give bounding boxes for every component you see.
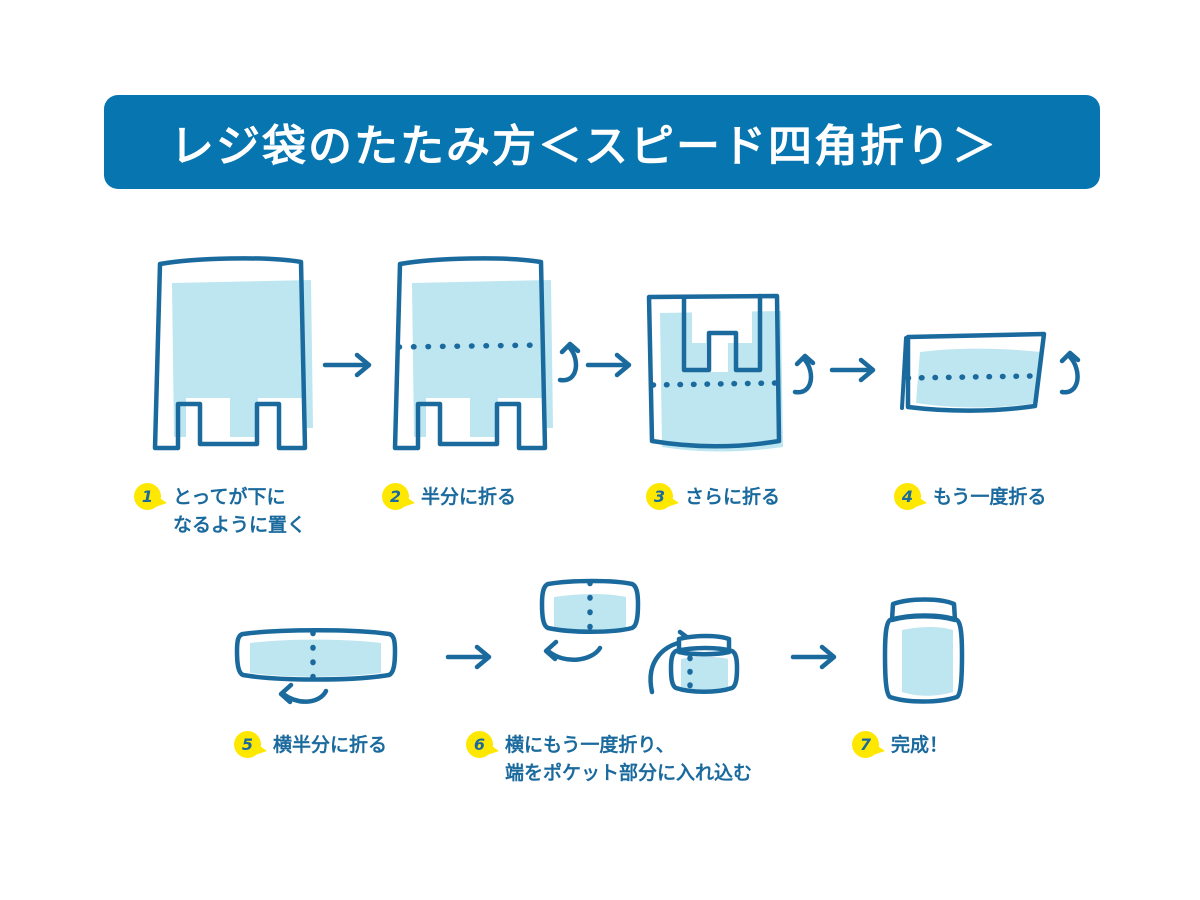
step-badge-5: 5: [234, 731, 261, 758]
step-label-2: 半分に折る: [421, 482, 516, 512]
arrow-step5-to-step6: [448, 647, 489, 667]
step-caption-4: 4 もう一度折る: [894, 482, 1046, 512]
step-label-3: さらに折る: [685, 482, 780, 512]
bag-edge-step4: [902, 338, 906, 408]
page-title: レジ袋のたたみ方＜スピード四角折り＞: [170, 110, 998, 174]
arrow-step3-to-step4: [832, 360, 873, 380]
step-badge-3: 3: [646, 483, 673, 510]
step-caption-3: 3 さらに折る: [646, 482, 780, 512]
step-badge-7: 7: [852, 731, 879, 758]
step-badge-6: 6: [466, 731, 493, 758]
arrow-step2-to-step3: [588, 355, 629, 375]
step-number-5: 5: [234, 731, 261, 758]
flap-outline-step6b: [679, 636, 729, 654]
step-caption-2: 2 半分に折る: [382, 482, 516, 512]
step-number-4: 4: [894, 483, 921, 510]
fold-arrow-step5: [281, 685, 326, 702]
fold-arrow-step3: [795, 356, 813, 392]
step-badge-4: 4: [894, 483, 921, 510]
step-7-illustration: [885, 600, 962, 702]
step-number-1: 1: [134, 483, 161, 510]
step-badge-2: 2: [382, 483, 409, 510]
step-caption-1: 1 とってが下に なるように置く: [134, 482, 306, 539]
fold-arrow-step4: [1062, 353, 1078, 392]
header-banner: レジ袋のたたみ方＜スピード四角折り＞: [104, 95, 1100, 189]
step-caption-6: 6 横にもう一度折り、 端をポケット部分に入れ込む: [466, 730, 752, 787]
step-caption-5: 5 横半分に折る: [234, 730, 387, 760]
bag-fill-step5: [250, 640, 381, 677]
bag-fill-step2: [412, 280, 553, 437]
step-label-4: もう一度折る: [933, 482, 1046, 512]
step-3-illustration: [649, 296, 783, 452]
step-4-illustration: [902, 334, 1044, 411]
step-2-illustration: [395, 258, 553, 448]
pouch-fill-step7: [902, 627, 953, 696]
step-number-3: 3: [646, 483, 673, 510]
step-label-1: とってが下に なるように置く: [173, 482, 306, 539]
step-number-7: 7: [852, 731, 879, 758]
step-badge-1: 1: [134, 483, 161, 510]
step-label-7: 完成！: [891, 730, 948, 760]
step-number-2: 2: [382, 483, 409, 510]
arrow-step1-to-step2: [325, 355, 369, 375]
step-label-6: 横にもう一度折り、 端をポケット部分に入れ込む: [505, 730, 752, 787]
fold-arrow-step6a: [546, 642, 600, 660]
step-caption-7: 7 完成！: [852, 730, 948, 760]
arrow-step6-to-step7: [793, 647, 834, 667]
step-1-illustration: [155, 258, 313, 448]
step-5-illustration: [237, 630, 395, 679]
bag-fill-step1: [172, 280, 313, 437]
step-6-illustration: [542, 581, 737, 692]
fold-arrow-step2: [560, 344, 578, 380]
step-number-6: 6: [466, 731, 493, 758]
step-label-5: 横半分に折る: [273, 730, 387, 760]
